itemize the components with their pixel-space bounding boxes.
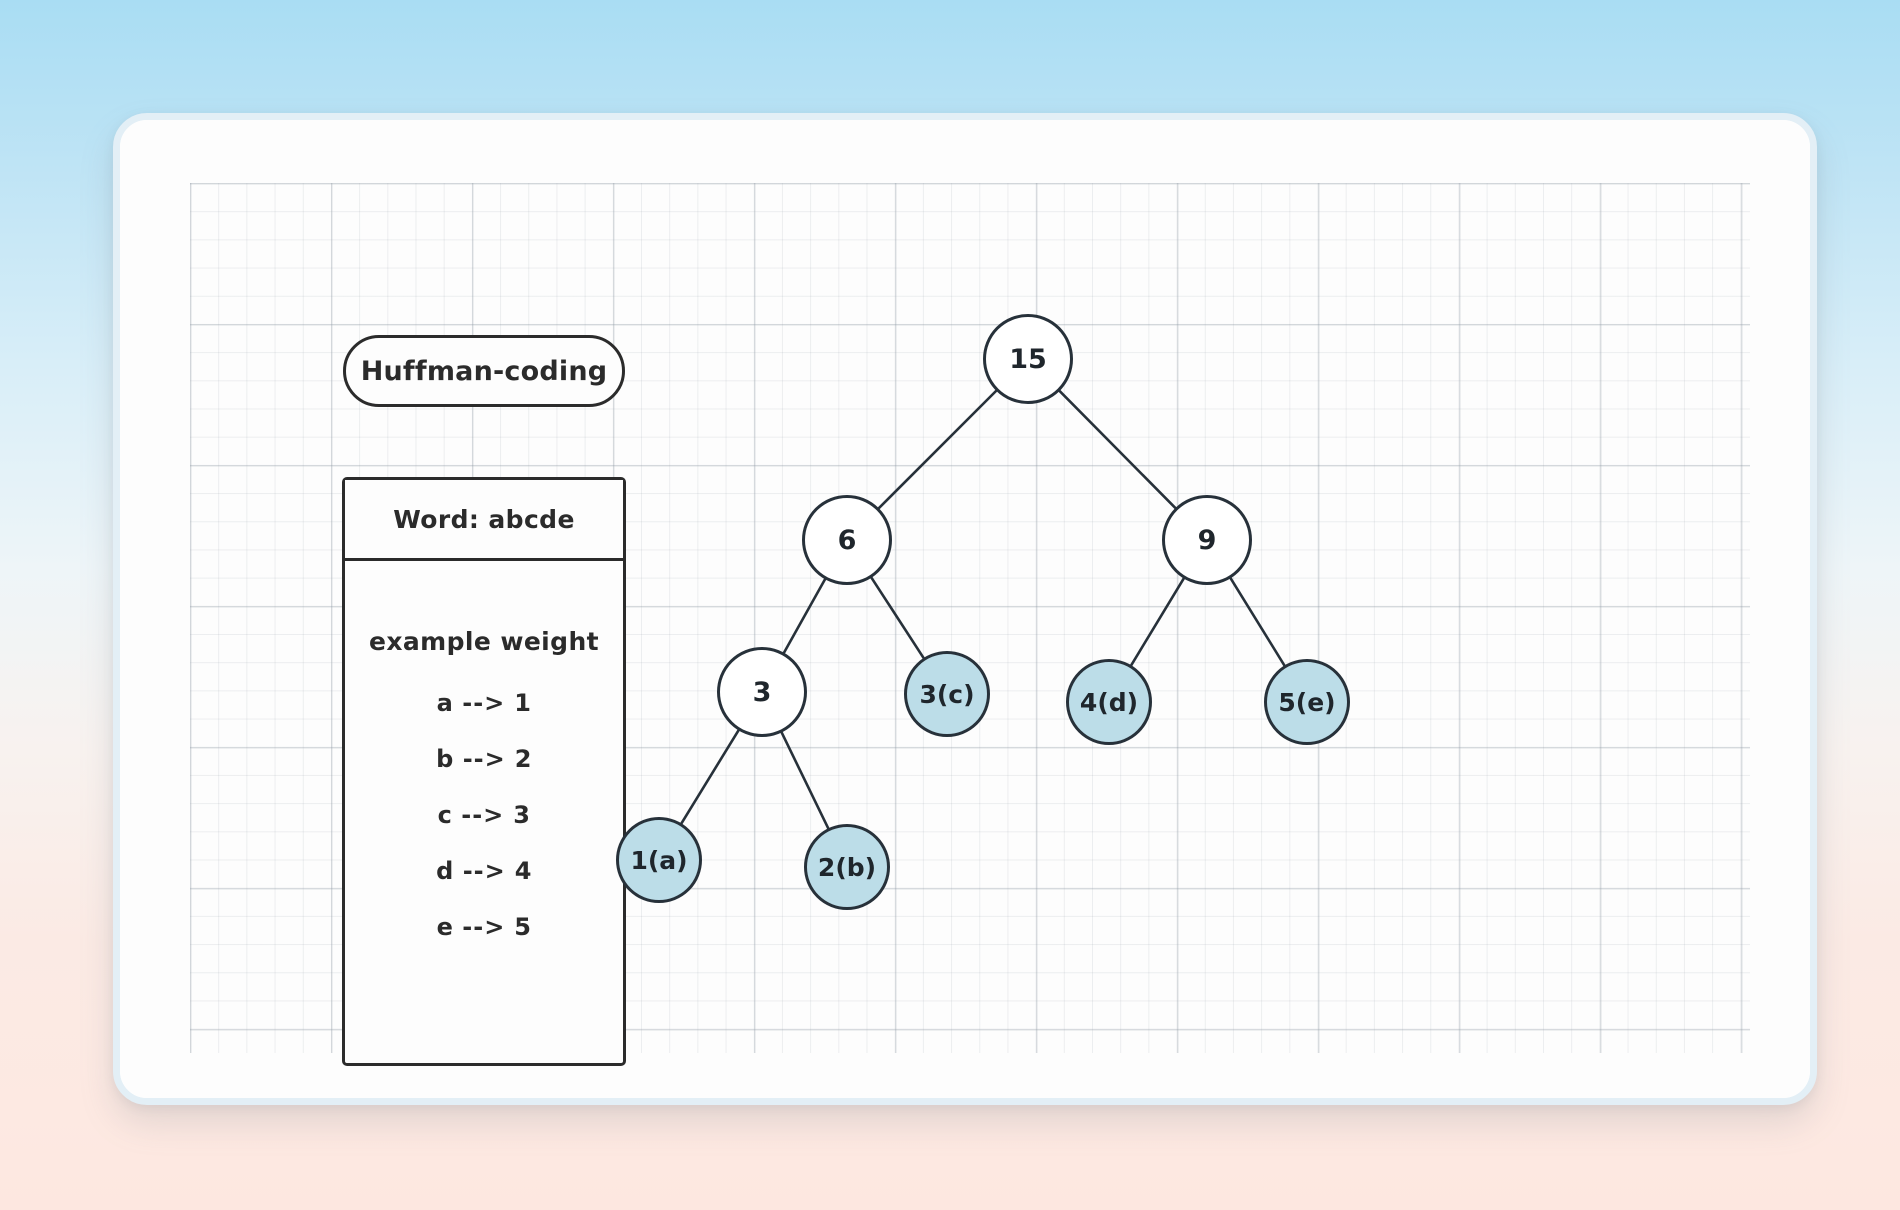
tree-node-lb[interactable]: 2(b) <box>804 824 890 910</box>
tree-node-n15[interactable]: 15 <box>983 314 1073 404</box>
tree-nodes: 156933(c)4(d)5(e)1(a)2(b) <box>120 120 1817 1105</box>
tree-node-label: 3 <box>753 677 772 708</box>
tree-node-n9[interactable]: 9 <box>1162 495 1252 585</box>
tree-node-label: 5(e) <box>1278 688 1335 717</box>
tree-node-label: 15 <box>1009 344 1047 375</box>
tree-node-label: 9 <box>1198 525 1217 556</box>
tree-node-le[interactable]: 5(e) <box>1264 659 1350 745</box>
tree-node-label: 6 <box>838 525 857 556</box>
tree-node-lc[interactable]: 3(c) <box>904 651 990 737</box>
tree-node-label: 3(c) <box>919 680 974 709</box>
board-surface[interactable]: Huffman-coding Word: abcde example weigh… <box>120 120 1810 1098</box>
tree-node-label: 2(b) <box>818 853 876 882</box>
tree-node-ld[interactable]: 4(d) <box>1066 659 1152 745</box>
tree-node-la[interactable]: 1(a) <box>616 817 702 903</box>
tree-node-label: 4(d) <box>1080 688 1138 717</box>
tree-node-n6[interactable]: 6 <box>802 495 892 585</box>
tree-node-n3[interactable]: 3 <box>717 647 807 737</box>
whiteboard-card[interactable]: Huffman-coding Word: abcde example weigh… <box>113 113 1817 1105</box>
tree-node-label: 1(a) <box>630 846 687 875</box>
